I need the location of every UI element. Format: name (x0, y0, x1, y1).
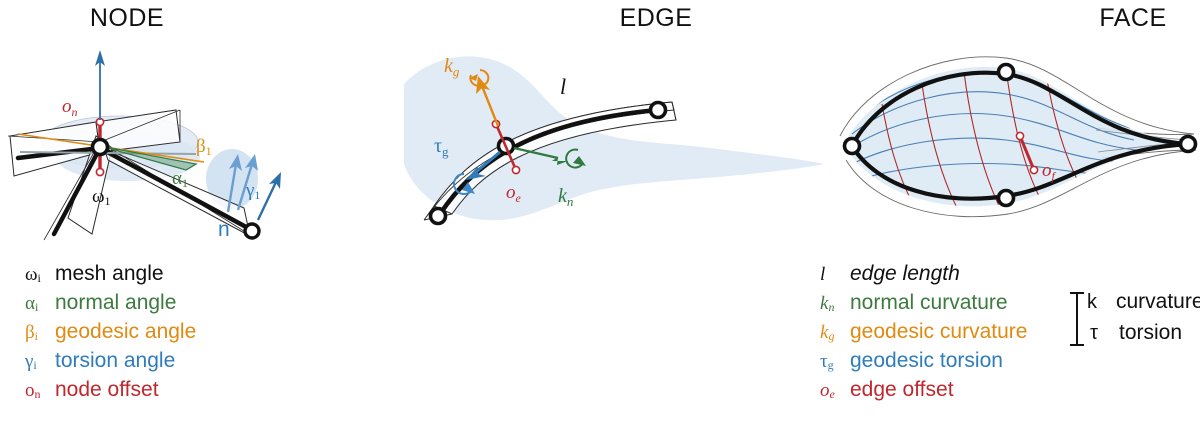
panel-node: NODE (0, 0, 400, 423)
legend-description: torsion angle (55, 349, 175, 373)
legend-symbol: ωi (25, 264, 55, 286)
legend-description: node offset (55, 378, 159, 402)
legend-row: γi torsion angle (25, 349, 196, 378)
face-figure: of (830, 24, 1200, 262)
legend-symbol: on (25, 380, 55, 402)
node-hub (93, 140, 108, 155)
geodesic-angle-label: β1 (196, 136, 212, 158)
panel-edge: EDGE (400, 0, 830, 423)
legend-row: βi geodesic angle (25, 320, 196, 349)
node-offset-dot-bottom (96, 168, 103, 175)
edge-length-label: l (560, 74, 566, 99)
edge-figure: l kg kn τg oe (400, 24, 830, 262)
legend-row: ωi mesh angle (25, 262, 196, 291)
mesh-angle-label: ω1 (92, 186, 111, 208)
legend-node: ωi mesh angle αi normal angle βi geodesi… (25, 262, 196, 407)
neighbor-node (245, 224, 259, 238)
legend-description: normal angle (55, 291, 176, 315)
node-label: n (218, 218, 230, 241)
face-corner-node-right (1181, 137, 1196, 152)
diagram-root: NODE (0, 0, 1200, 423)
torsion-arrow-3-shaft (258, 182, 276, 220)
legend-symbol: γi (25, 351, 55, 373)
face-offset-dot-bottom (1030, 166, 1037, 173)
edge-offset-dot-bottom (512, 166, 519, 173)
legend-description: geodesic angle (55, 320, 196, 344)
panel-face: FACE (830, 0, 1200, 423)
legend-description: mesh angle (55, 262, 164, 286)
legend-row: αi normal angle (25, 291, 196, 320)
node-figure: on ω1 α1 β1 γ1 n (0, 24, 400, 262)
face-offset-dot-top (1016, 132, 1023, 139)
legend-row: on node offset (25, 378, 196, 407)
edge-endpoint-start (431, 209, 446, 224)
face-corner-node-top (999, 65, 1014, 80)
face-corner-node-bottom (999, 191, 1014, 206)
face-corner-node-left (845, 139, 860, 154)
legend-symbol: αi (25, 293, 55, 315)
legend-symbol: βi (25, 322, 55, 344)
torsion-angle-label: γ1 (245, 180, 260, 202)
node-offset-label: on (62, 96, 78, 119)
edge-endpoint-end (651, 103, 666, 118)
